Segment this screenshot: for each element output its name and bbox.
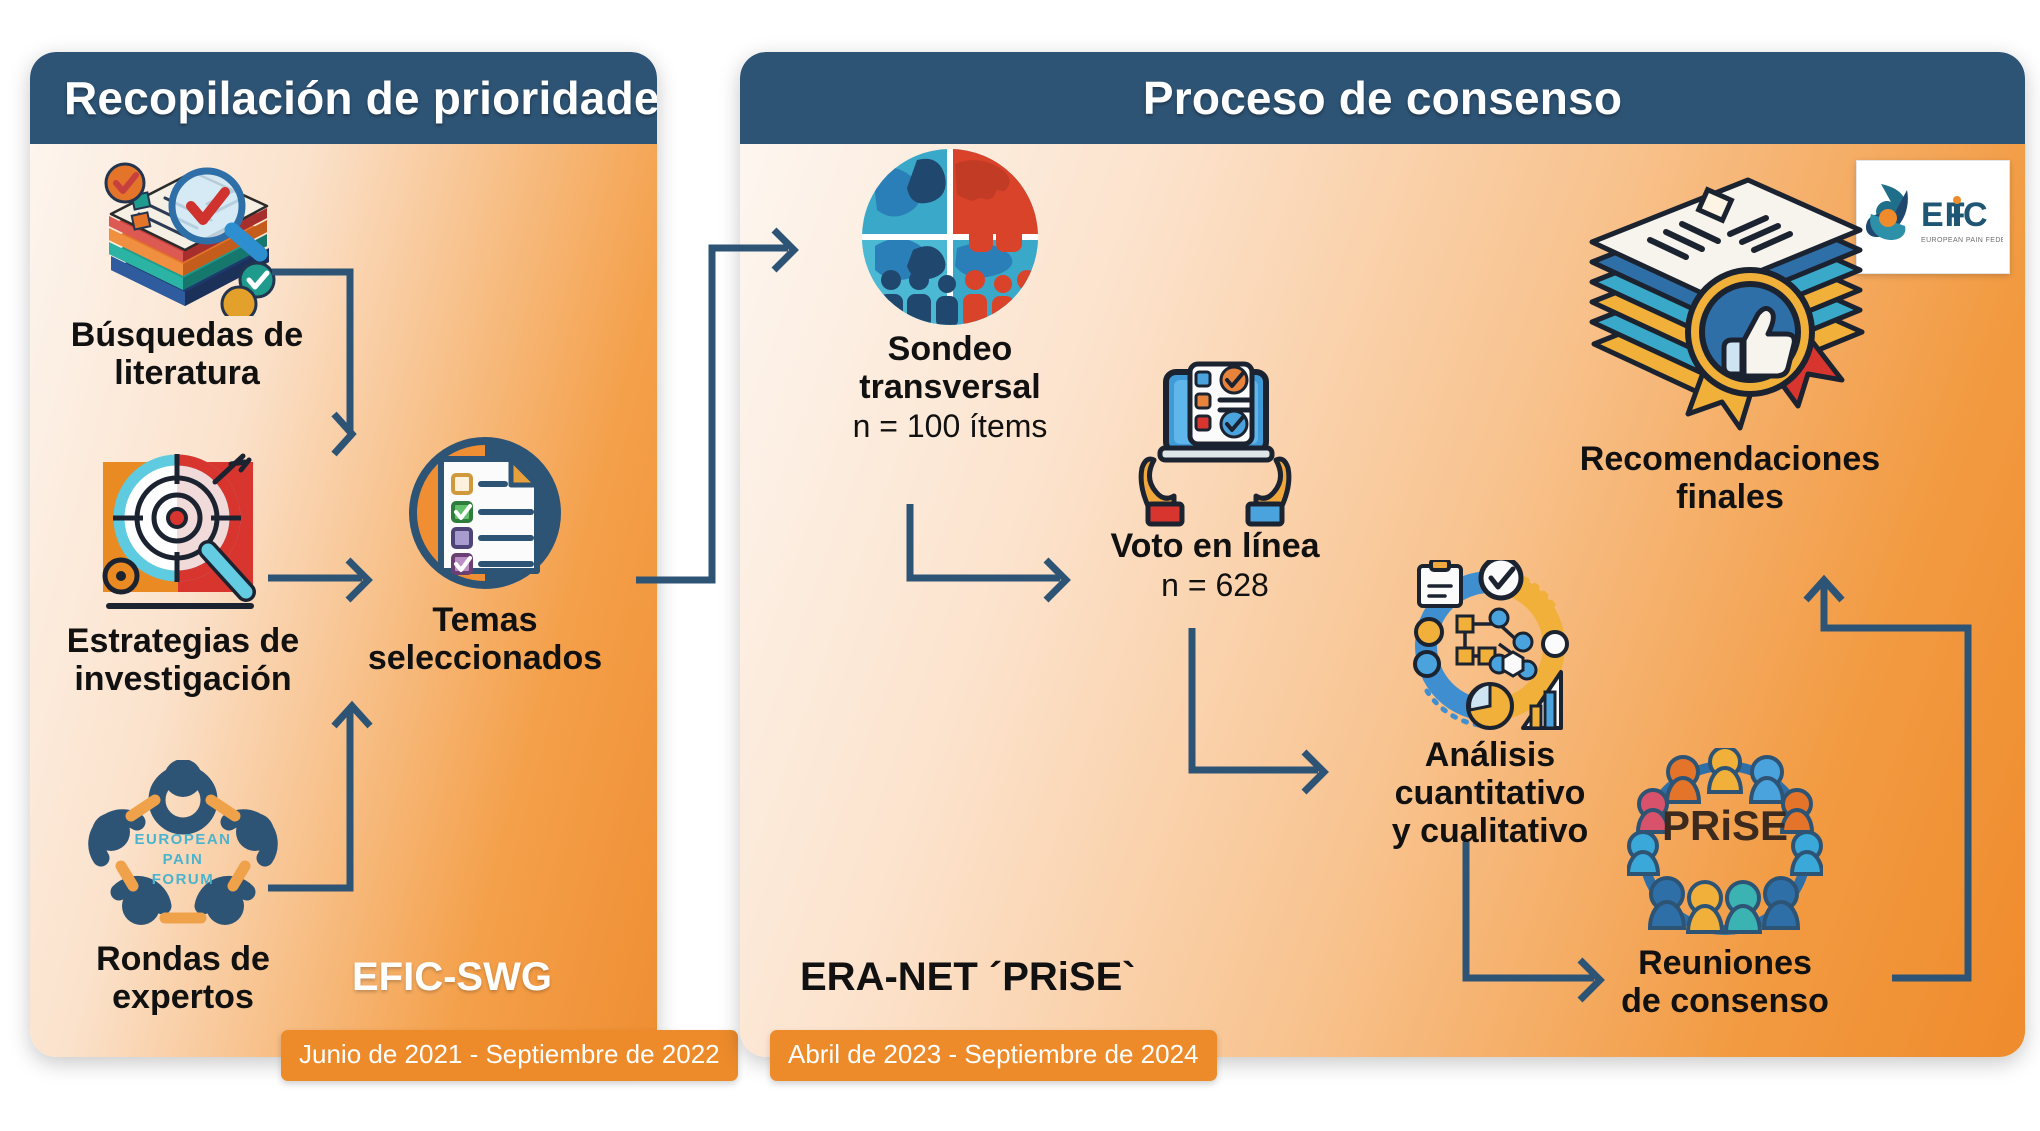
node-online-vote[interactable]: Voto en línea n = 628 xyxy=(1050,352,1380,604)
brand-era-net-prise: ERA-NET ´PRiSE` xyxy=(800,955,1136,1000)
svg-text:PAIN: PAIN xyxy=(163,851,204,868)
node-research-strategies[interactable]: Estrategias de investigación xyxy=(48,440,318,698)
panel-left-title: Recopilación de prioridades xyxy=(64,71,657,125)
europe-globe-people-icon xyxy=(780,140,1120,330)
hands-tablet-checklist-icon xyxy=(1050,352,1380,527)
document-stack-award-icon xyxy=(1560,150,1900,440)
svg-text:C: C xyxy=(1963,196,1988,234)
node-literature-searches-label: Búsquedas de literatura xyxy=(52,316,322,392)
panel-left-header: Recopilación de prioridades xyxy=(30,52,657,144)
node-final-recommendations[interactable]: Recomendaciones finales xyxy=(1560,150,1900,516)
svg-text:EUROPEAN: EUROPEAN xyxy=(134,831,231,848)
prise-people-ring-logo: PRiSE xyxy=(1570,748,1880,944)
panel-right-title: Proceso de consenso xyxy=(1143,71,1622,125)
node-literature-searches[interactable]: Búsquedas de literatura xyxy=(52,148,322,392)
svg-text:EUROPEAN PAIN FEDERATION: EUROPEAN PAIN FEDERATION xyxy=(1921,237,2003,244)
target-magnifier-icon xyxy=(48,440,318,622)
svg-text:FORUM: FORUM xyxy=(152,871,215,888)
date-chip-right: Abril de 2023 - Septiembre de 2024 xyxy=(770,1030,1217,1081)
node-final-recommendations-label: Recomendaciones finales xyxy=(1560,440,1900,516)
node-expert-rounds-label: Rondas de expertos xyxy=(48,940,318,1016)
panel-right-header: Proceso de consenso xyxy=(740,52,2025,144)
node-selected-topics-label: Temas seleccionados xyxy=(330,601,640,677)
date-chip-left: Junio de 2021 - Septiembre de 2022 xyxy=(281,1030,738,1081)
node-online-vote-sub: n = 628 xyxy=(1050,568,1380,604)
node-expert-rounds[interactable]: EUROPEAN PAIN FORUM Rondas de expertos xyxy=(48,760,318,1016)
european-pain-forum-logo: EUROPEAN PAIN FORUM xyxy=(48,760,318,940)
brand-efic-swg: EFIC-SWG xyxy=(352,955,552,1000)
node-research-strategies-label: Estrategias de investigación xyxy=(48,622,318,698)
document-stack-search-icon xyxy=(52,148,322,316)
prise-wordmark: PRiSE xyxy=(1662,802,1788,849)
diagram-canvas: Recopilación de prioridades xyxy=(0,0,2040,1131)
node-consensus-meetings-label: Reuniones de consenso xyxy=(1570,944,1880,1020)
node-online-vote-label: Voto en línea xyxy=(1050,527,1380,565)
node-consensus-meetings[interactable]: PRiSE Reuniones de consenso xyxy=(1570,748,1880,1020)
data-analysis-cycle-icon xyxy=(1340,560,1640,736)
checklist-circle-icon xyxy=(330,425,640,601)
node-selected-topics[interactable]: Temas seleccionados xyxy=(330,425,640,677)
